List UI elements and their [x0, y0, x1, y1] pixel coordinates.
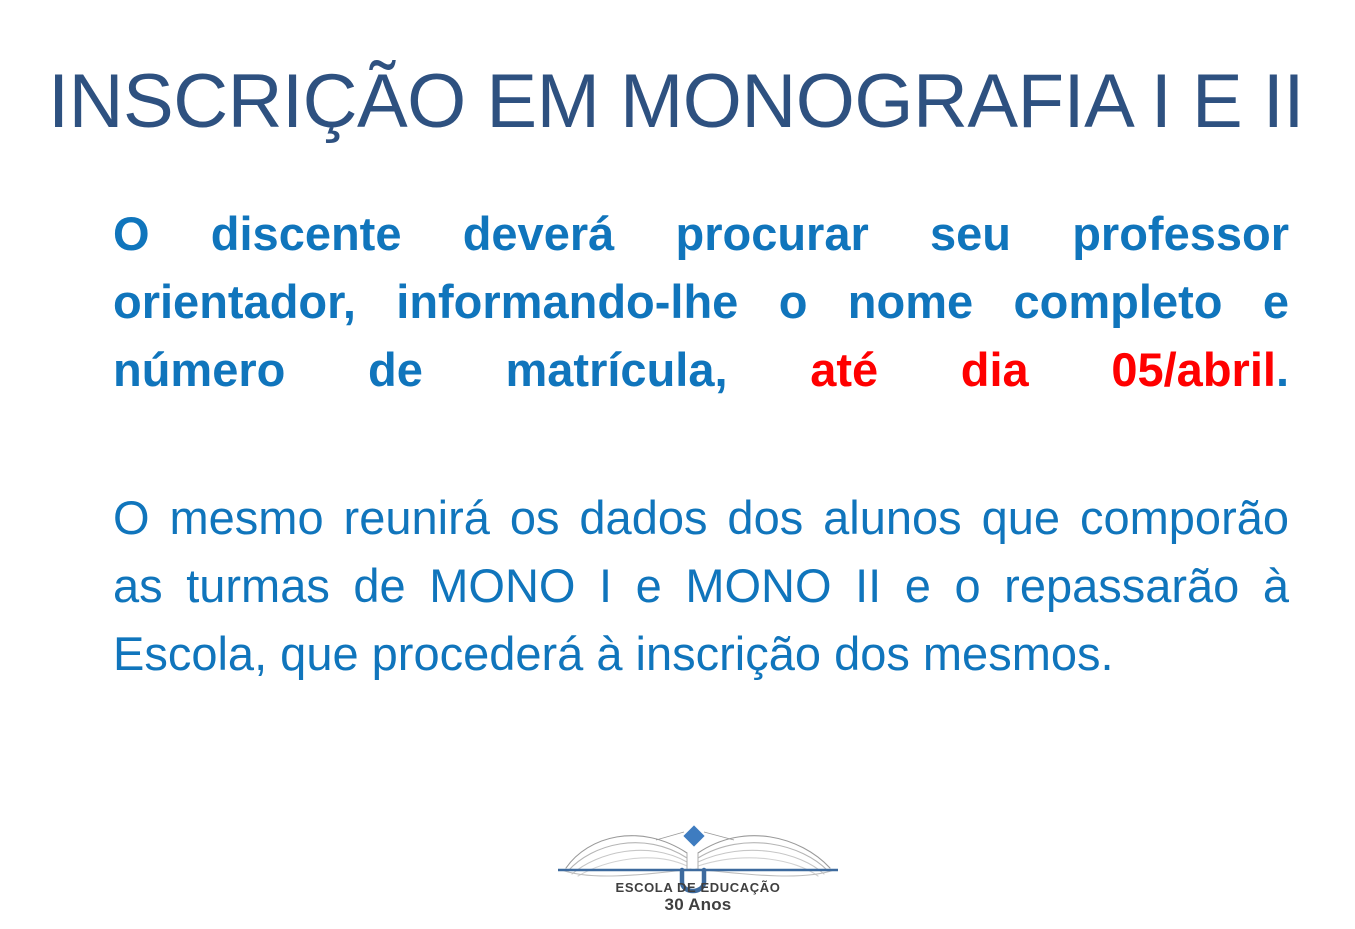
page-title: INSCRIÇÃO EM MONOGRAFIA I E II [48, 56, 1293, 152]
paragraph-1-deadline-accent: até dia 05/abril [810, 343, 1276, 396]
paragraph-registration-instruction: O discente deverá procurar seu professor… [113, 200, 1289, 472]
diamond-icon [683, 825, 704, 846]
escola-de-educacao-logo: ESCOLA DE EDUCAÇÃO 30 Anos [548, 806, 848, 924]
logo-wordmark-secondary: 30 Anos [548, 895, 848, 915]
body-content: O discente deverá procurar seu professor… [113, 200, 1289, 688]
paragraph-class-formation: O mesmo reunirá os dados dos alunos que … [113, 484, 1289, 688]
paragraph-1-trailing-text: . [1276, 343, 1289, 396]
logo-wordmark-primary: ESCOLA DE EDUCAÇÃO [548, 880, 848, 895]
slide-canvas: INSCRIÇÃO EM MONOGRAFIA I E II O discent… [0, 0, 1355, 929]
